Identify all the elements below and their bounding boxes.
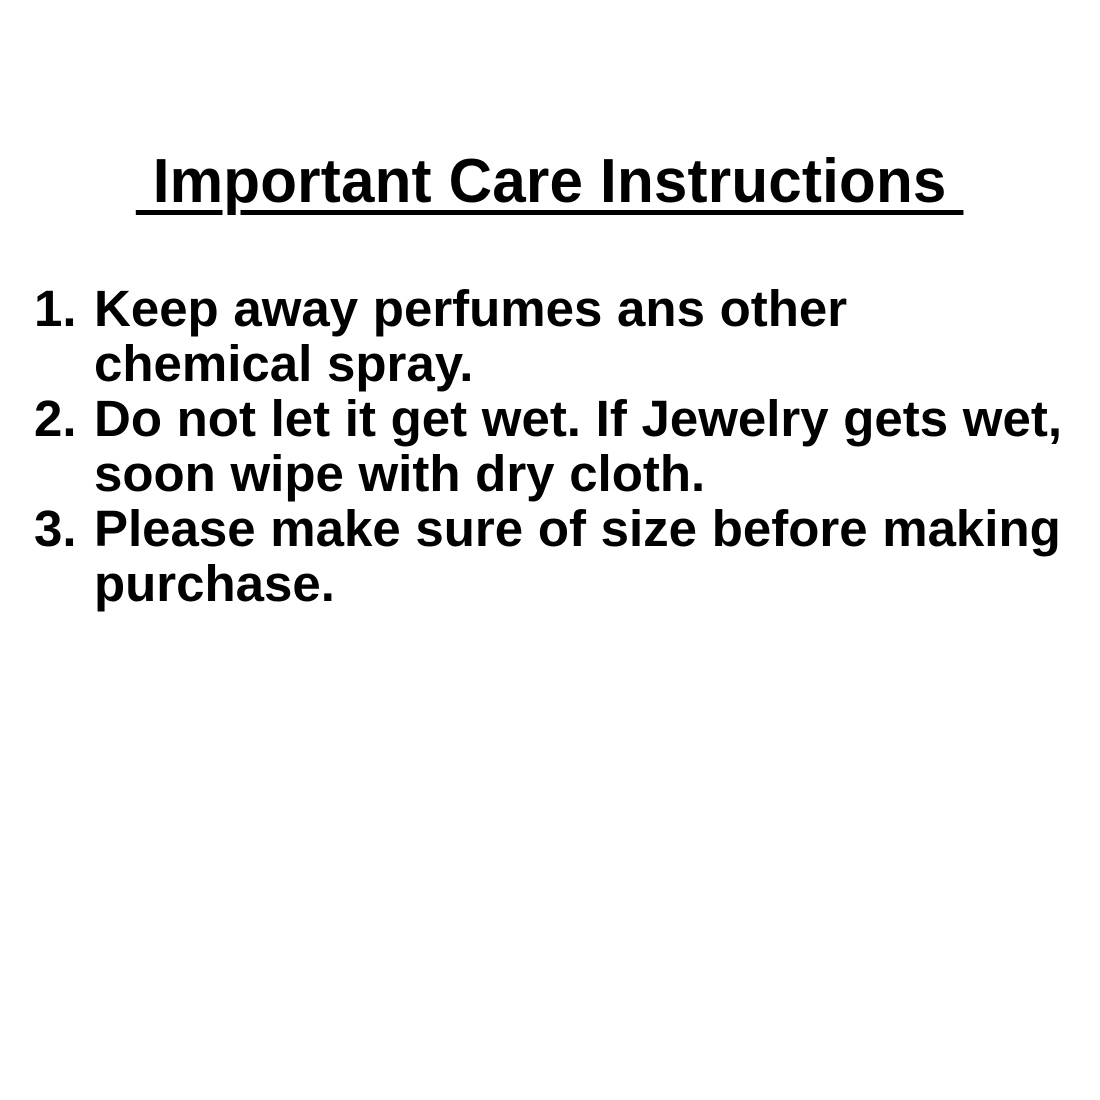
page-title-block: Important Care Instructions (0, 146, 1100, 218)
list-item-marker: 1. (34, 281, 94, 336)
list-item: 3. Please make sure of size before makin… (34, 501, 1068, 611)
list-item-text: Do not let it get wet. If Jewelry gets w… (94, 391, 1068, 501)
list-item-marker: 2. (34, 391, 94, 446)
list-item-text: Please make sure of size before making p… (94, 501, 1068, 611)
list-item-marker: 3. (34, 501, 94, 556)
list-item-text: Keep away perfumes ans other chemical sp… (94, 281, 1068, 391)
list-item: 2. Do not let it get wet. If Jewelry get… (34, 391, 1068, 501)
care-instructions-page: Important Care Instructions 1. Keep away… (0, 0, 1100, 1100)
page-title: Important Care Instructions (136, 146, 964, 218)
care-instructions-list: 1. Keep away perfumes ans other chemical… (34, 281, 1068, 611)
list-item: 1. Keep away perfumes ans other chemical… (34, 281, 1068, 391)
